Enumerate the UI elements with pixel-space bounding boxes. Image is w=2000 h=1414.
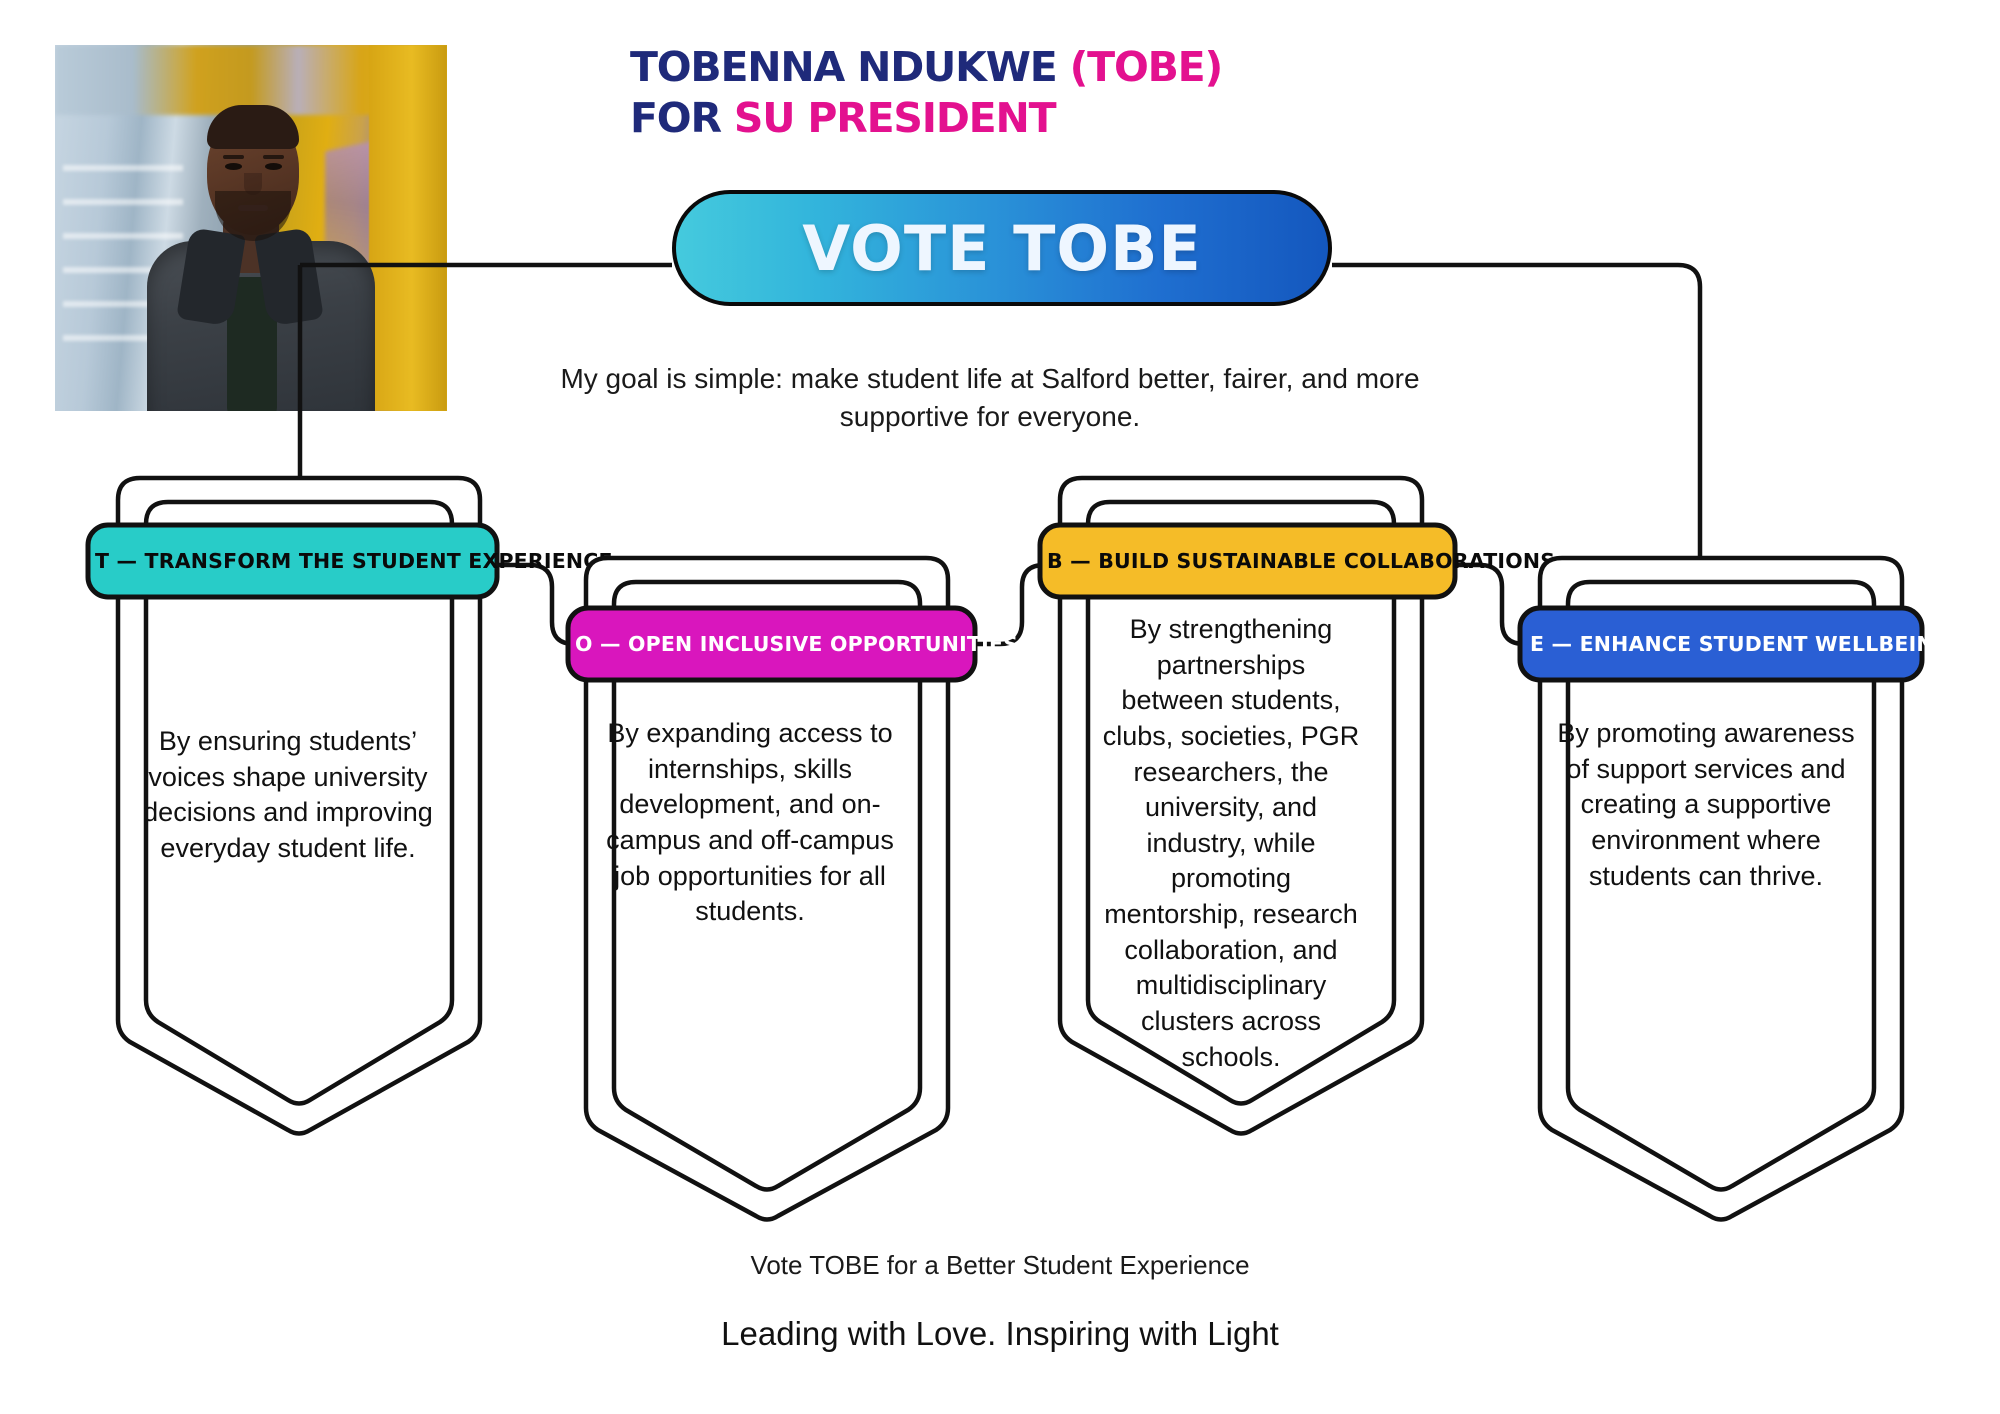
pillar-title-t: T — TRANSFORM THE STUDENT EXPERIENCE [95, 549, 613, 573]
pillar-body-e: By promoting awareness of support servic… [1556, 716, 1856, 894]
pillar-title-o: O — OPEN INCLUSIVE OPPORTUNITIES [575, 632, 1018, 656]
vote-banner-label: VOTE TOBE [672, 190, 1332, 306]
pillar-body-t: By ensuring students’ voices shape unive… [128, 724, 448, 867]
pillar-body-b: By strengthening partnerships between st… [1102, 612, 1360, 1075]
pillar-title-b: B — BUILD SUSTAINABLE COLLABORATIONS [1047, 549, 1555, 573]
vote-tobe-banner[interactable]: VOTE TOBE [672, 190, 1332, 306]
pillar-title-e: E — ENHANCE STUDENT WELLBEING [1530, 632, 1951, 656]
pillar-body-o: By expanding access to internships, skil… [600, 716, 900, 930]
